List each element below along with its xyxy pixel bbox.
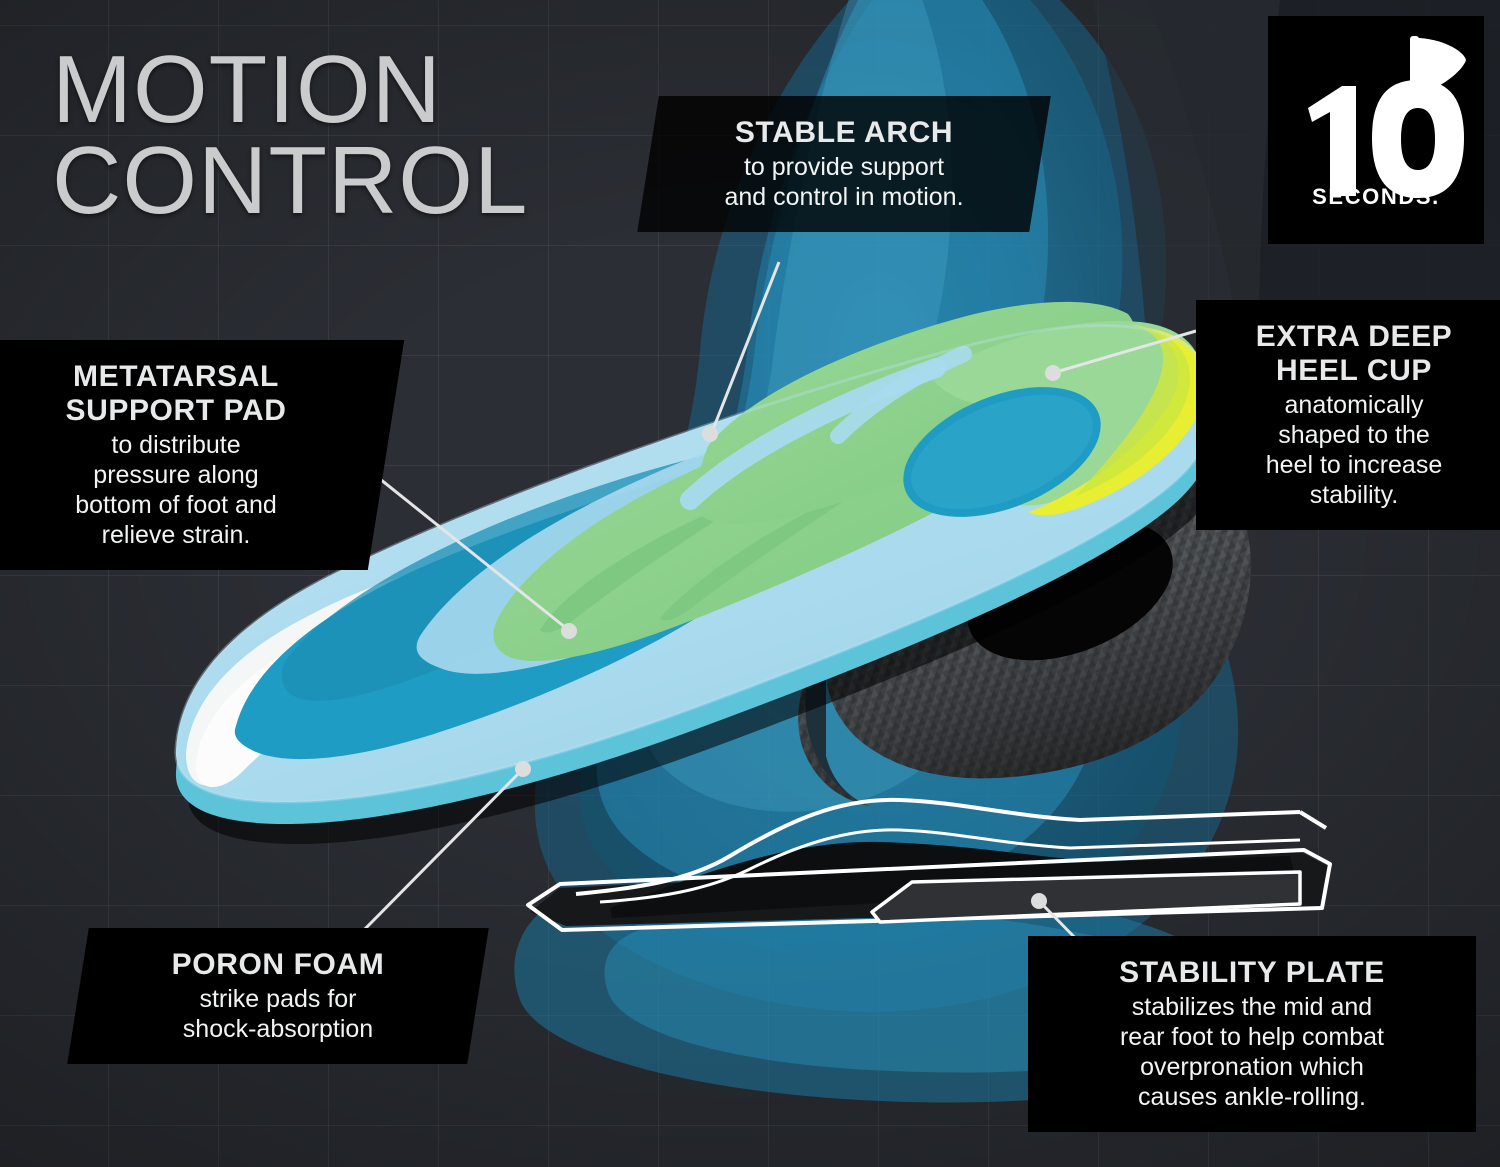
callout-heading: PORON FOAM <box>104 948 452 982</box>
leader-dot-metatarsal <box>561 623 577 639</box>
callout-heading: STABLE ARCH <box>674 116 1014 150</box>
callout-body: to provide support and control in motion… <box>674 152 1014 212</box>
leader-line-poron <box>358 771 521 936</box>
leader-dot-stable-arch <box>702 426 718 442</box>
callout-poron-foam: PORON FOAM strike pads for shock-absorpt… <box>67 928 489 1064</box>
page-title: MOTION CONTROL <box>52 44 528 226</box>
callout-heading: STABILITY PLATE <box>1054 956 1450 990</box>
leader-dot-poron <box>515 761 531 777</box>
leader-line-heel-cup <box>1056 331 1196 372</box>
leader-dot-heel-cup <box>1045 365 1061 381</box>
brand-wordmark: SECONDS. <box>1268 184 1484 210</box>
callout-heading: EXTRA DEEP HEEL CUP <box>1222 320 1486 388</box>
callout-body: to distribute pressure along bottom of f… <box>0 430 360 550</box>
infographic-poster: MOTION CONTROL SECONDS. STABLE ARCH to p… <box>0 0 1500 1167</box>
leader-dot-stability-plate <box>1031 893 1047 909</box>
callout-metatarsal-support-pad: METATARSAL SUPPORT PAD to distribute pre… <box>0 340 404 570</box>
callout-heading: METATARSAL SUPPORT PAD <box>0 360 360 428</box>
callout-stable-arch: STABLE ARCH to provide support and contr… <box>637 96 1051 232</box>
callout-body: stabilizes the mid and rear foot to help… <box>1054 992 1450 1112</box>
brand-logo: SECONDS. <box>1268 16 1484 244</box>
leader-line-stable-arch <box>712 262 779 432</box>
callout-stability-plate: STABILITY PLATE stabilizes the mid and r… <box>1028 936 1476 1132</box>
callout-body: anatomically shaped to the heel to incre… <box>1222 390 1486 510</box>
callout-body: strike pads for shock-absorption <box>104 984 452 1044</box>
callout-extra-deep-heel-cup: EXTRA DEEP HEEL CUP anatomically shaped … <box>1196 300 1500 530</box>
